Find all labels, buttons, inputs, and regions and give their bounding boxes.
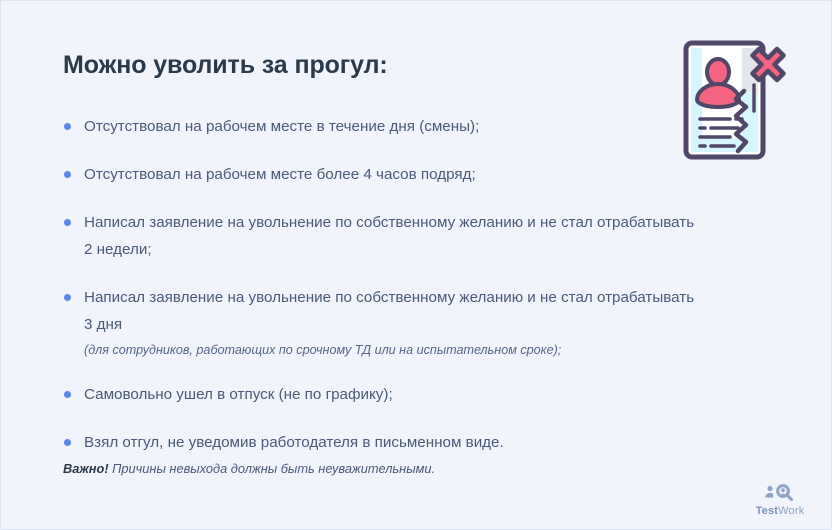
torn-document-with-person-and-cross-icon (682, 39, 786, 161)
list-item-text: Взял отгул, не уведомив работодателя в п… (84, 429, 703, 456)
important-note: Важно! Причины невыхода должны быть неув… (63, 461, 435, 476)
bullet-dot-icon (64, 123, 71, 130)
list-item: Написал заявление на увольнение по собст… (63, 209, 703, 263)
brand-name-rest: Work (778, 505, 804, 517)
brand-logo: TestWork (747, 484, 813, 517)
brand-name-strong: Test (756, 505, 779, 517)
bullet-dot-icon (64, 219, 71, 226)
list-item-note: (для сотрудников, работающих по срочному… (84, 340, 703, 360)
list-item-text: Самовольно ушел в отпуск (не по графику)… (84, 381, 703, 408)
page-title: Можно уволить за прогул: (63, 51, 388, 80)
bullet-dot-icon (64, 171, 71, 178)
important-label: Важно! (63, 461, 109, 476)
bullet-dot-icon (64, 391, 71, 398)
list-item: Самовольно ушел в отпуск (не по графику)… (63, 381, 703, 408)
reasons-list: Отсутствовал на рабочем месте в течение … (63, 113, 703, 456)
person-magnifier-icon (747, 484, 813, 504)
list-item: Отсутствовал на рабочем месте в течение … (63, 113, 703, 140)
list-item-text: Отсутствовал на рабочем месте в течение … (84, 113, 703, 140)
list-item-text: Написал заявление на увольнение по собст… (84, 284, 703, 338)
list-item: Написал заявление на увольнение по собст… (63, 284, 703, 360)
slide-card: Можно уволить за прогул: Отсутствовал на… (0, 0, 832, 530)
important-note-text: Причины невыхода должны быть неуважитель… (109, 461, 435, 476)
list-item: Взял отгул, не уведомив работодателя в п… (63, 429, 703, 456)
list-item-text: Написал заявление на увольнение по собст… (84, 209, 703, 263)
bullet-dot-icon (64, 294, 71, 301)
list-item-text: Отсутствовал на рабочем месте более 4 ча… (84, 161, 703, 188)
brand-name: TestWork (747, 505, 813, 517)
bullet-dot-icon (64, 439, 71, 446)
list-item: Отсутствовал на рабочем месте более 4 ча… (63, 161, 703, 188)
